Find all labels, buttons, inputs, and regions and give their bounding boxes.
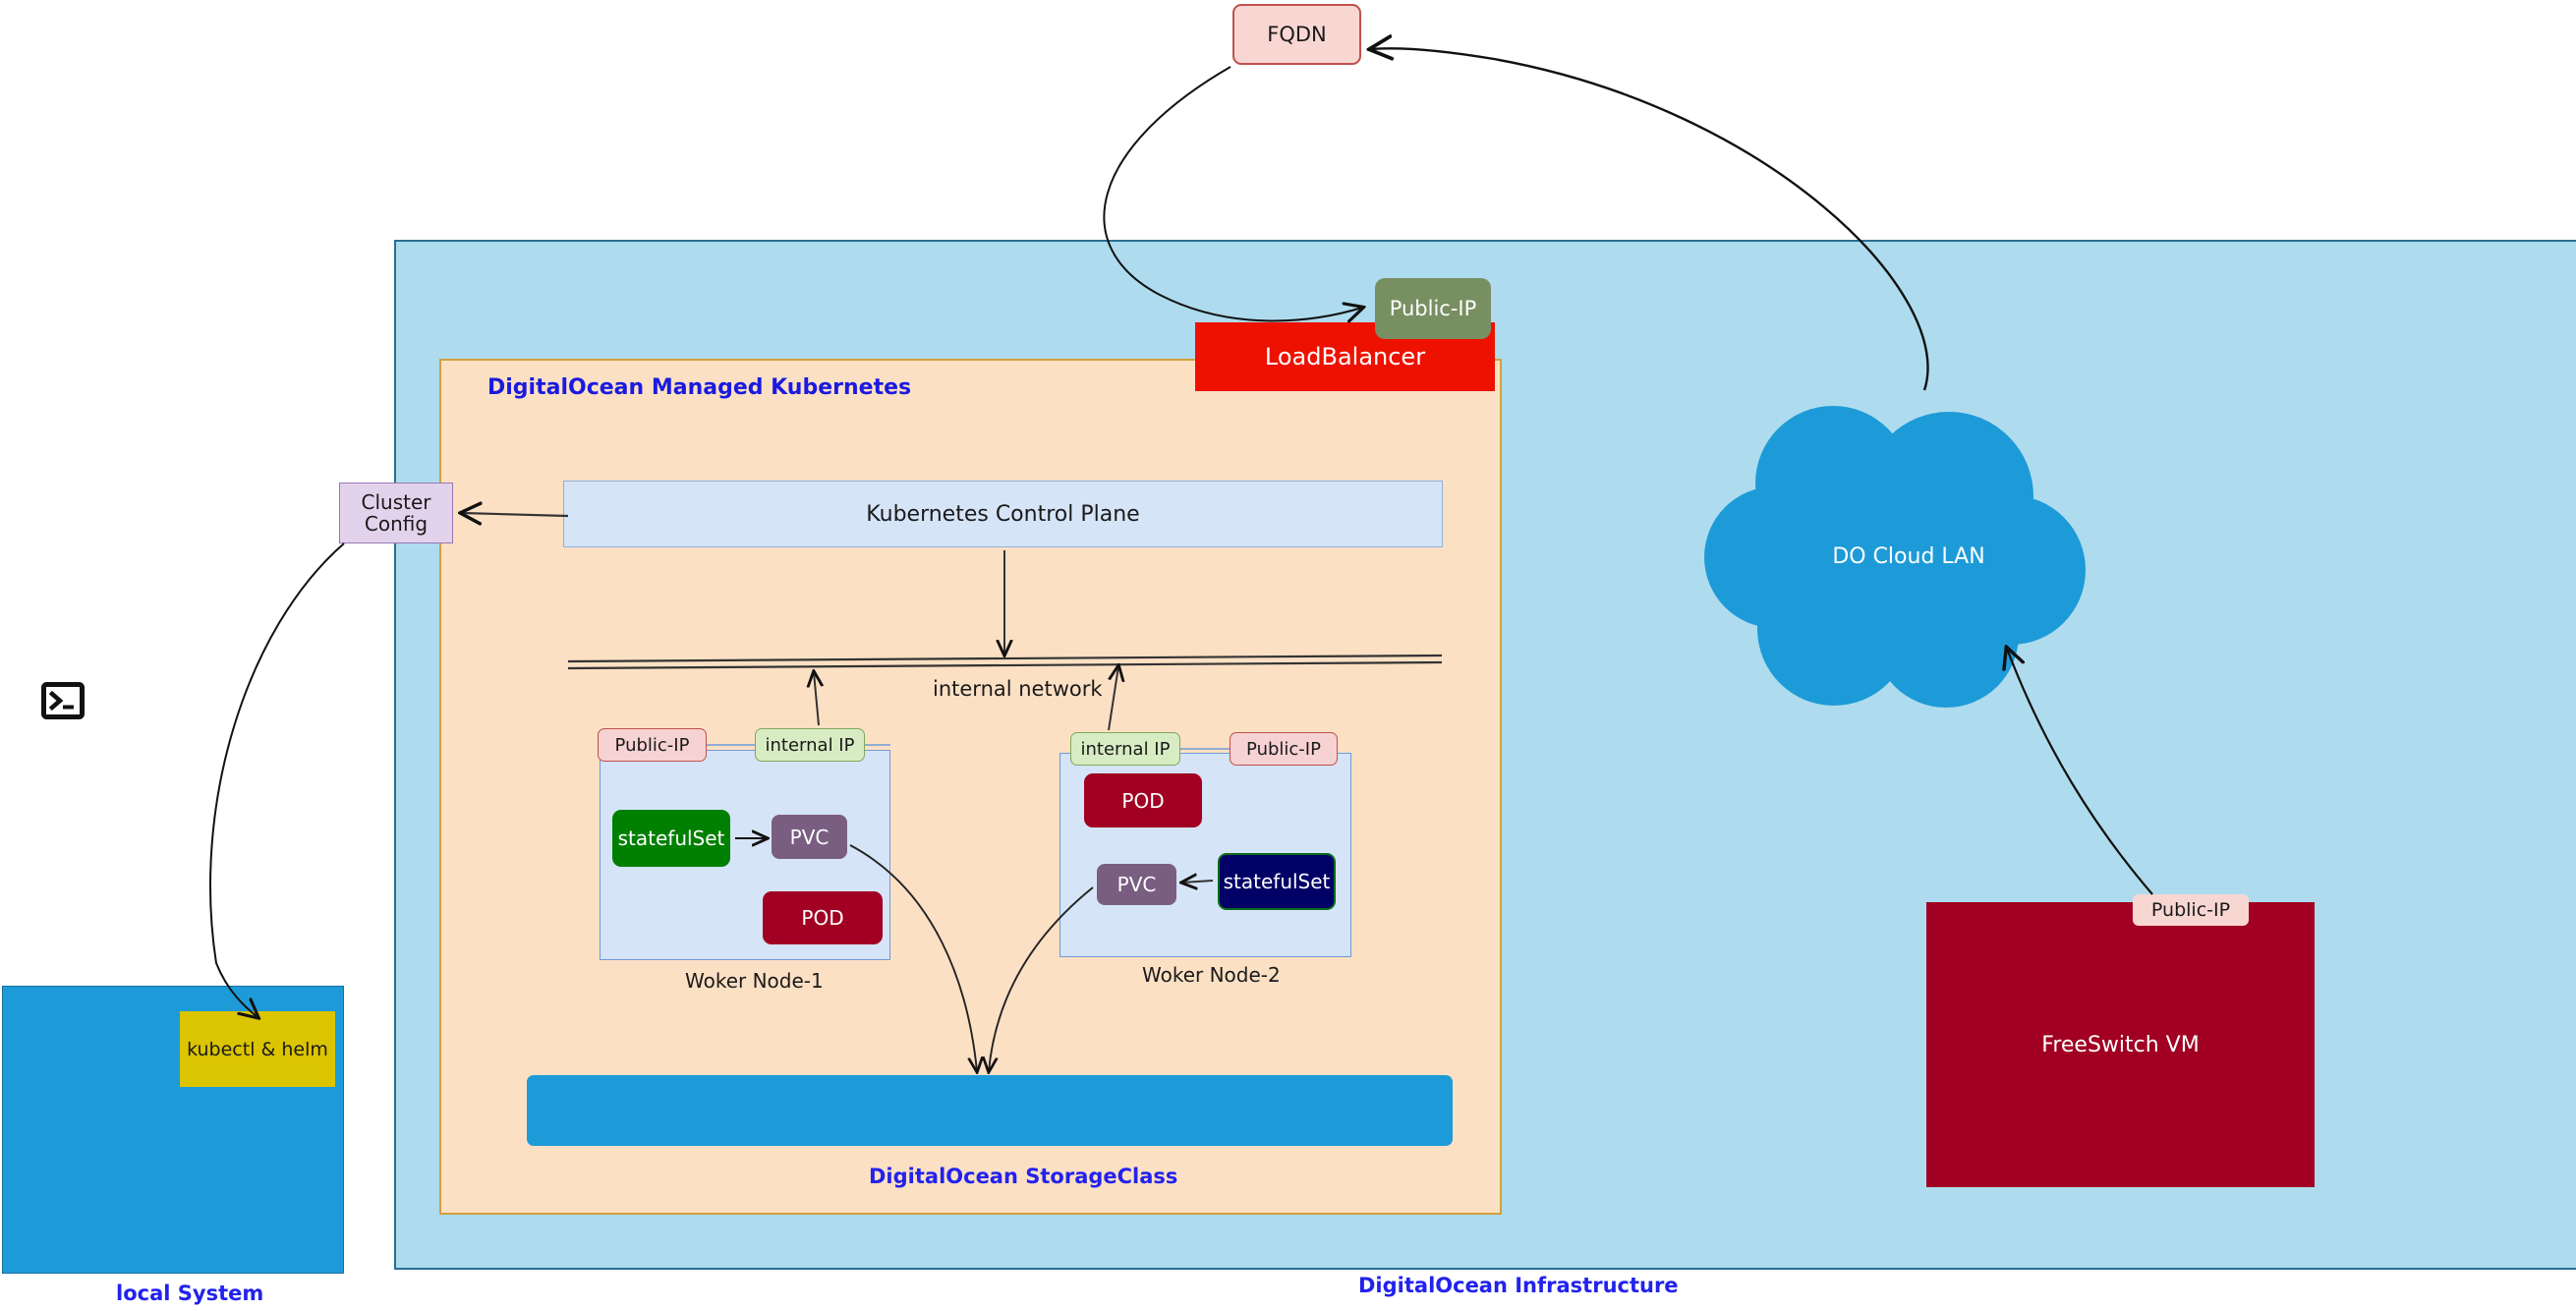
- worker-node-2-statefulset[interactable]: statefulSet: [1218, 853, 1336, 910]
- storageclass-label: DigitalOcean StorageClass: [869, 1165, 1177, 1188]
- worker-node-2-pvc[interactable]: PVC: [1097, 864, 1176, 905]
- worker-node-2-caption: Woker Node-2: [1142, 963, 1281, 987]
- digitalocean-infrastructure-label: DigitalOcean Infrastructure: [1358, 1274, 1679, 1297]
- worker-node-2-pod[interactable]: POD: [1084, 773, 1202, 827]
- worker-node-1-caption: Woker Node-1: [685, 969, 824, 993]
- fqdn-node[interactable]: FQDN: [1232, 4, 1361, 65]
- kubectl-helm-node[interactable]: kubectl & helm: [180, 1011, 335, 1087]
- do-cloud-lan-label: DO Cloud LAN: [1801, 541, 2017, 571]
- cluster-config-node[interactable]: Cluster Config: [339, 483, 453, 543]
- worker-node-1-statefulset[interactable]: statefulSet: [612, 810, 730, 867]
- freeswitch-public-ip-badge[interactable]: Public-IP: [2133, 894, 2249, 926]
- worker-node-1-public-ip-badge[interactable]: Public-IP: [598, 728, 707, 762]
- terminal-icon: [41, 682, 85, 719]
- edge-clusterconfig-to-kubectl: [210, 543, 344, 1017]
- worker-node-2-public-ip-badge[interactable]: Public-IP: [1230, 732, 1338, 766]
- local-system-label: local System: [116, 1282, 263, 1305]
- cluster-config-line-2: Config: [365, 513, 428, 535]
- loadbalancer-public-ip-badge[interactable]: Public-IP: [1375, 278, 1491, 339]
- cluster-config-line-1: Cluster: [362, 491, 431, 513]
- freeswitch-vm-node[interactable]: FreeSwitch VM: [1926, 902, 2315, 1187]
- diagram-canvas: DigitalOcean Infrastructure DigitalOcean…: [0, 0, 2576, 1311]
- storageclass-bar[interactable]: [527, 1075, 1453, 1146]
- worker-node-1-pvc[interactable]: PVC: [772, 815, 847, 859]
- internal-network-label: internal network: [933, 677, 1103, 701]
- managed-kubernetes-label: DigitalOcean Managed Kubernetes: [487, 375, 911, 400]
- kubernetes-control-plane-node[interactable]: Kubernetes Control Plane: [563, 481, 1443, 547]
- worker-node-1-pod[interactable]: POD: [763, 891, 883, 944]
- worker-node-1-internal-ip-badge[interactable]: internal IP: [755, 728, 865, 762]
- worker-node-2-internal-ip-badge[interactable]: internal IP: [1070, 732, 1180, 766]
